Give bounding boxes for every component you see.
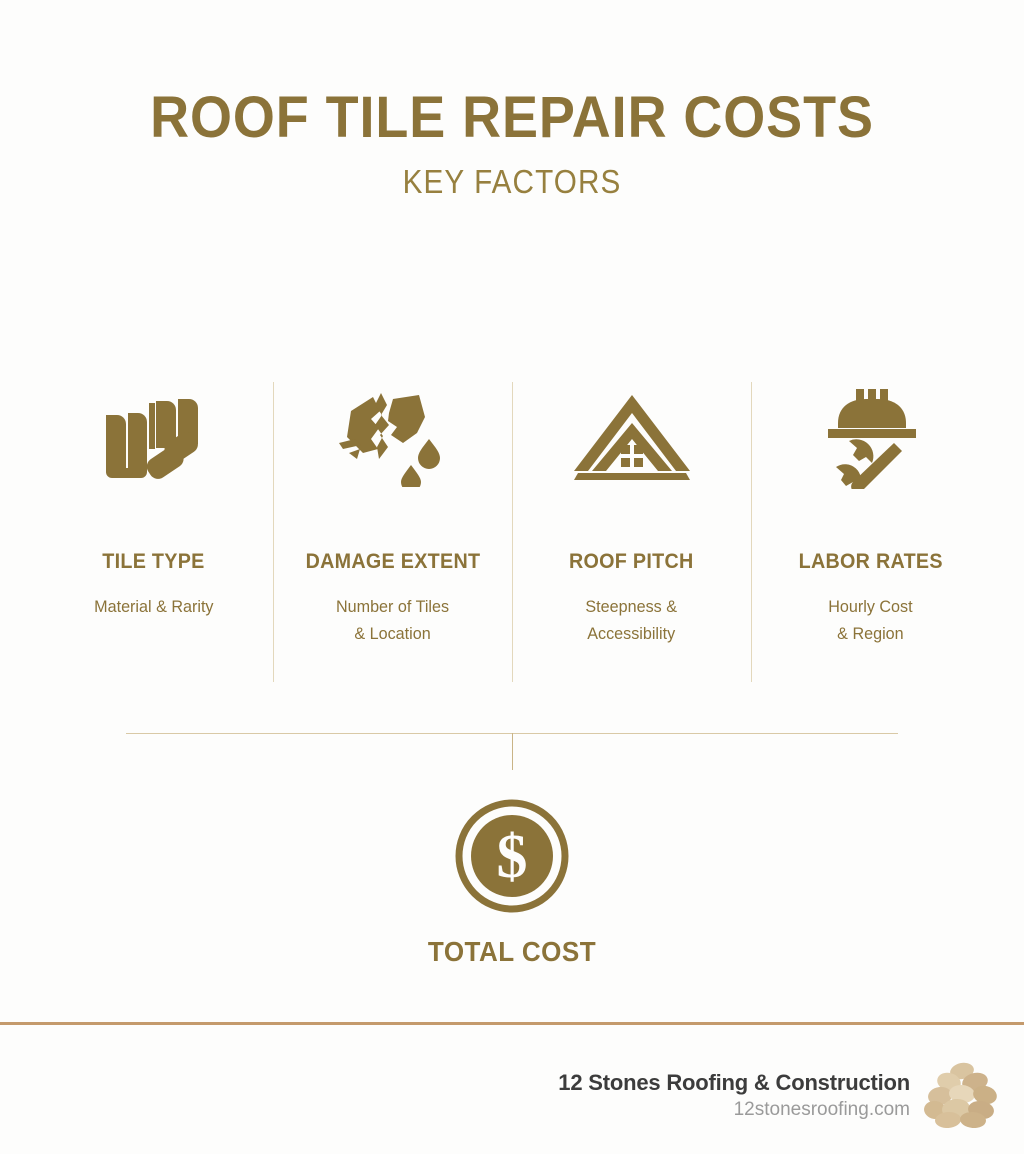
factor-description-line: & Region [828,620,912,647]
footer-divider [0,1022,1024,1025]
connector-vertical-rule [512,733,513,770]
cracked-tile-icon [333,382,453,492]
roof-pitch-icon [570,382,694,492]
hard-hat-tools-icon [816,382,926,492]
factor-card-roof-pitch: ROOF PITCH Steepness & Accessibility [512,382,751,682]
factor-description: Material & Rarity [94,593,213,620]
factor-description: Hourly Cost & Region [828,593,912,647]
factor-card-tile-type: TILE TYPE Material & Rarity [34,382,273,682]
footer: 12 Stones Roofing & Construction 12stone… [0,1052,1024,1138]
factor-title: TILE TYPE [102,550,204,574]
page-subtitle: KEY FACTORS [51,163,973,201]
factor-title: LABOR RATES [798,550,942,574]
total-cost-block: $ TOTAL COST [0,798,1024,968]
header: ROOF TILE REPAIR COSTS KEY FACTORS [0,0,1024,201]
factor-description-line: Accessibility [586,620,678,647]
factor-description-line: & Location [336,620,449,647]
factors-row: TILE TYPE Material & Rarity [34,382,990,682]
factor-description-line: Material & Rarity [94,593,213,620]
infographic-poster: ROOF TILE REPAIR COSTS KEY FACTORS [0,0,1024,1154]
page-title: ROOF TILE REPAIR COSTS [36,88,988,149]
factor-description-line: Hourly Cost [828,593,912,620]
company-name: 12 Stones Roofing & Construction [558,1070,910,1096]
coin-wrapper: $ [0,798,1024,914]
factor-description: Steepness & Accessibility [586,593,678,647]
company-website[interactable]: 12stonesroofing.com [558,1099,910,1121]
factor-description: Number of Tiles & Location [336,593,449,647]
factor-description-line: Number of Tiles [336,593,449,620]
factor-card-labor-rates: LABOR RATES Hourly Cost & Region [751,382,990,682]
factor-title: ROOF PITCH [569,550,694,574]
factor-description-line: Steepness & [586,593,678,620]
dollar-coin-icon: $ [454,798,570,914]
footer-text-block: 12 Stones Roofing & Construction 12stone… [558,1070,910,1121]
factor-title: DAMAGE EXTENT [305,550,480,574]
roof-tiles-icon [94,382,214,492]
dollar-symbol: $ [497,823,528,891]
factor-card-damage-extent: DAMAGE EXTENT Number of Tiles & Location [273,382,512,682]
total-cost-label: TOTAL COST [36,936,988,968]
stone-pile-logo [924,1062,1002,1128]
